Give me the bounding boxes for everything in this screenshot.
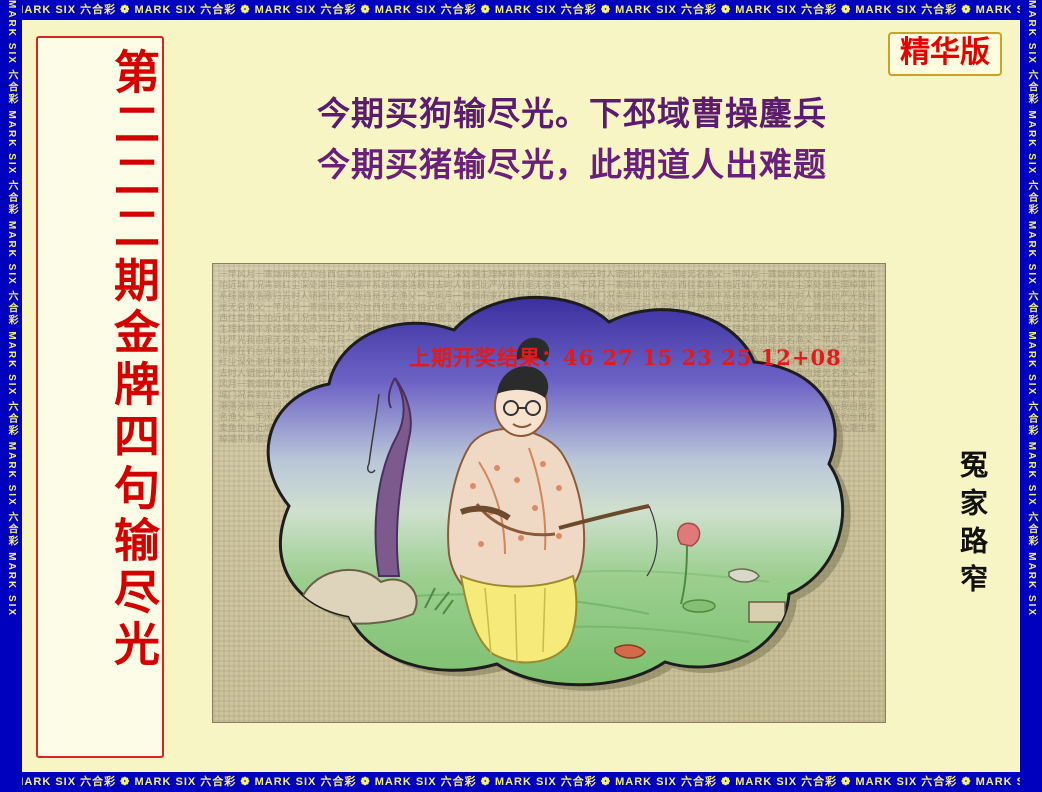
headline-line-1: 今期买狗输尽光。下邳域曹操鏖兵: [212, 88, 932, 139]
border-band-top: ❁ MARK SIX 六合彩 ❁ MARK SIX 六合彩 ❁ MARK SIX…: [0, 0, 1042, 20]
headline-block: 今期买狗输尽光。下邳域曹操鏖兵 今期买猪输尽光，此期道人出难题: [212, 88, 932, 190]
border-band-right: MARK SIX 六合彩 MARK SIX 六合彩 MARK SIX 六合彩 M…: [1020, 0, 1042, 792]
border-band-bottom: ❁ MARK SIX 六合彩 ❁ MARK SIX 六合彩 ❁ MARK SIX…: [0, 772, 1042, 792]
border-pattern-right: MARK SIX 六合彩 MARK SIX 六合彩 MARK SIX 六合彩 M…: [1020, 0, 1042, 617]
cloud-scene: [229, 276, 863, 696]
headline-line-2: 今期买猪输尽光，此期道人出难题: [212, 139, 932, 190]
seal-phrase: 冤家路窄: [946, 450, 992, 602]
border-pattern-top: ❁ MARK SIX 六合彩 ❁ MARK SIX 六合彩 ❁ MARK SIX…: [0, 0, 1042, 20]
illustration-panel: 一竿风月一蓑烟雨家在钓台西住卖鱼生怕近城门况肯到红尘深处潮生理棹潮平系缆潮落浩歌…: [212, 263, 886, 723]
issue-title-text: 第二二二期金牌四句输尽光: [38, 48, 162, 748]
border-band-left: MARK SIX 六合彩 MARK SIX 六合彩 MARK SIX 六合彩 M…: [0, 0, 22, 792]
border-pattern-left: MARK SIX 六合彩 MARK SIX 六合彩 MARK SIX 六合彩 M…: [0, 0, 22, 617]
border-pattern-bottom: ❁ MARK SIX 六合彩 ❁ MARK SIX 六合彩 ❁ MARK SIX…: [0, 772, 1042, 792]
issue-title-card: 第二二二期金牌四句输尽光: [36, 36, 164, 758]
poster-root: ❁ MARK SIX 六合彩 ❁ MARK SIX 六合彩 ❁ MARK SIX…: [0, 0, 1042, 792]
last-draw-result: 上期开奖结果：46 27 15 23 25 12+08: [409, 342, 842, 372]
poster-page: 第二二二期金牌四句输尽光 精华版 今期买狗输尽光。下邳域曹操鏖兵 今期买猪输尽光…: [22, 20, 1020, 772]
edition-badge: 精华版: [888, 32, 1002, 76]
